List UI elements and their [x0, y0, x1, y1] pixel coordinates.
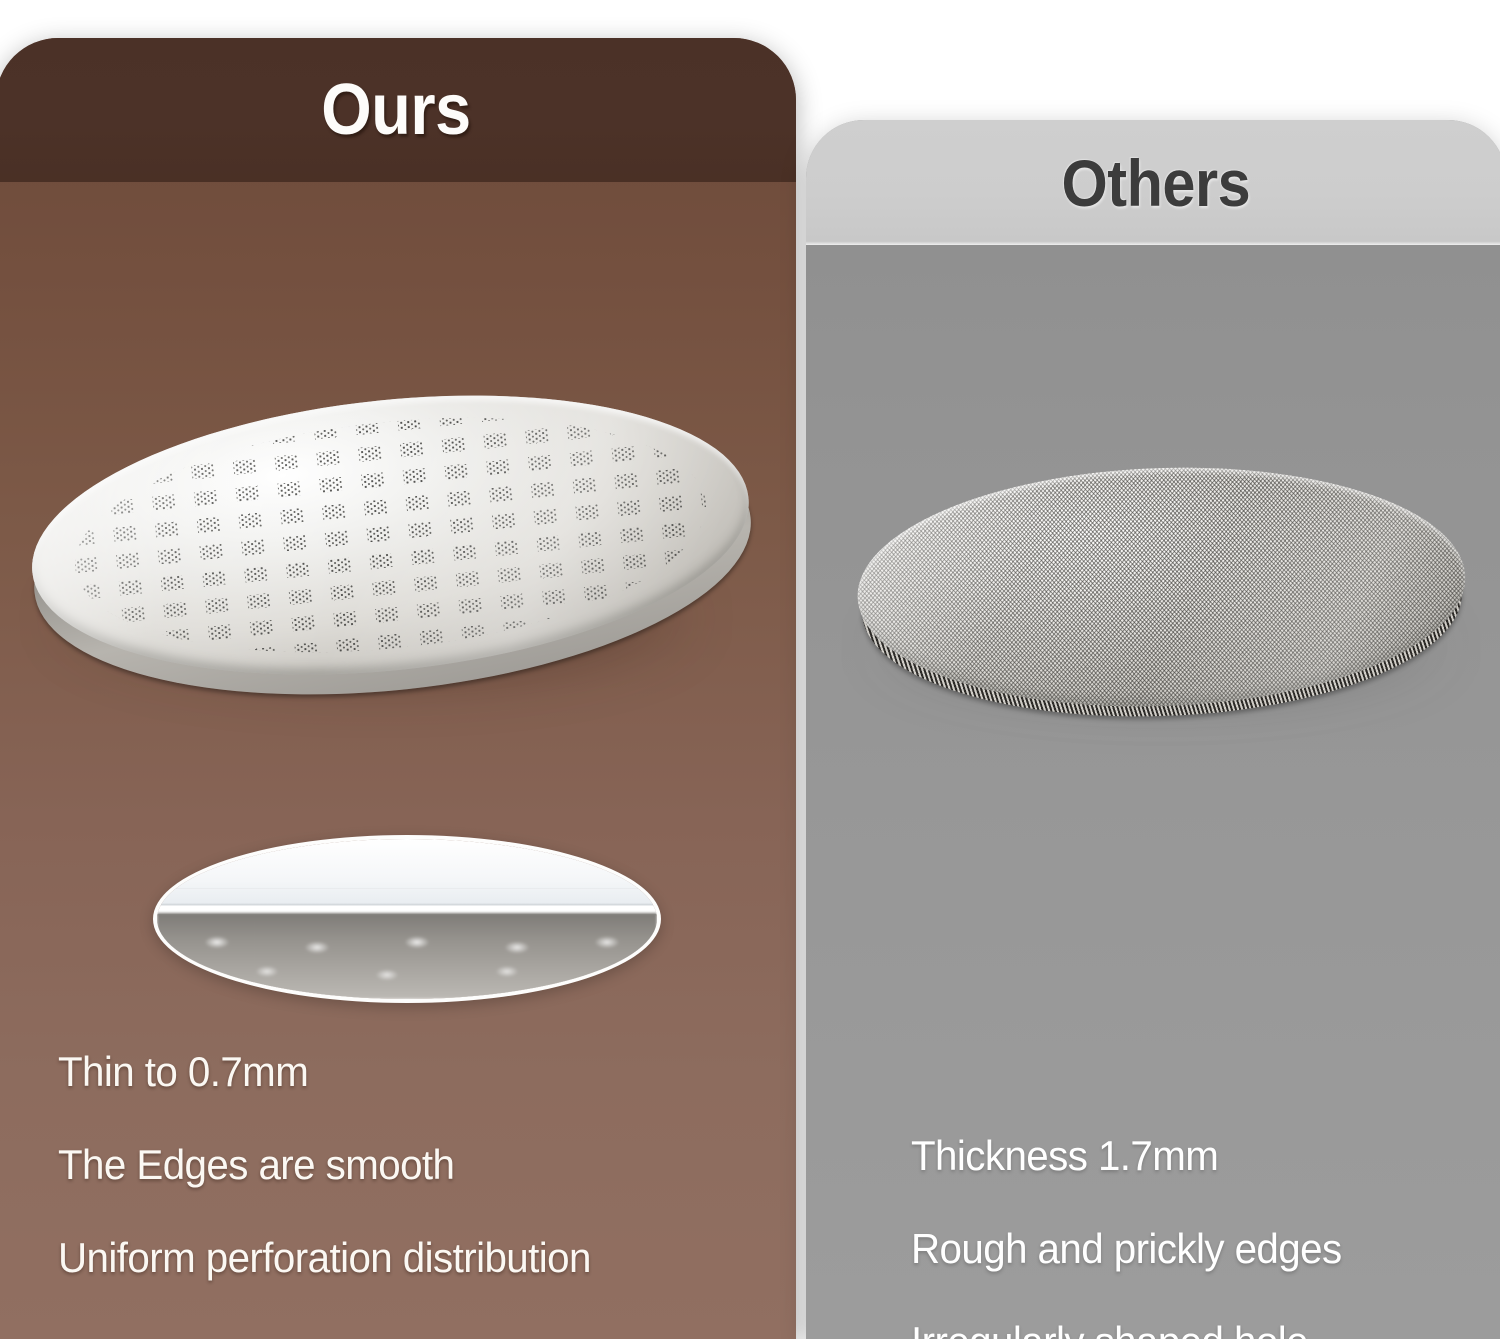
ours-title: Ours [321, 69, 470, 151]
others-feature-list: Thickness 1.7mm Rough and prickly edges … [806, 1135, 1500, 1339]
feature-item: Uniform perforation distribution [58, 1237, 766, 1279]
mesh-disc-image [853, 457, 1470, 748]
ours-header: Ours [0, 38, 796, 182]
smooth-edge-band [153, 889, 661, 915]
others-product-stage [806, 310, 1500, 790]
others-panel: Others Thickness 1.7mm Rough and prickly… [806, 120, 1500, 1339]
comparison-board: Ours Thin to 0.7mm The Edges are smooth … [0, 0, 1500, 1339]
others-title: Others [1062, 145, 1251, 221]
perforated-disc-image [18, 363, 765, 737]
ours-feature-list: Thin to 0.7mm The Edges are smooth Unifo… [0, 1051, 796, 1330]
ours-panel: Ours Thin to 0.7mm The Edges are smooth … [0, 38, 796, 1339]
feature-item: Thickness 1.7mm [911, 1135, 1482, 1177]
feature-item: The Edges are smooth [58, 1144, 766, 1186]
feature-item: Thin to 0.7mm [58, 1051, 766, 1093]
mesh-face [853, 457, 1469, 716]
feature-item: Rough and prickly edges [911, 1228, 1482, 1270]
others-header: Others [806, 120, 1500, 245]
dimpled-surface [157, 913, 657, 999]
feature-item: Irregularly shaped hole [911, 1321, 1482, 1339]
ours-edge-closeup [153, 835, 661, 1003]
ours-product-stage [0, 248, 796, 748]
